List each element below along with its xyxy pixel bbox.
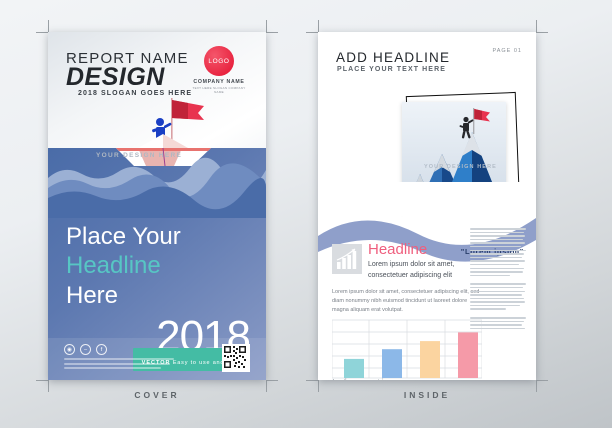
information-bar-chart — [332, 318, 482, 380]
crop-mark — [266, 32, 278, 33]
cover-footer: ◉ – f — [48, 338, 266, 380]
bar-series — [344, 332, 478, 378]
crop-mark — [318, 20, 319, 32]
headline-line-3: Here — [66, 281, 181, 310]
crop-mark — [266, 380, 267, 392]
bar-1 — [344, 359, 364, 378]
qr-code[interactable] — [222, 344, 250, 372]
crop-mark — [536, 32, 548, 33]
inside-subheadline: PLACE YOUR TEXT HERE — [337, 66, 446, 73]
artboard: REPORT NAME DESIGN 2018 SLOGAN GOES HERE… — [0, 0, 612, 428]
inside-design-here-label: YOUR DESIGN HERE — [424, 164, 497, 170]
logo-circle-icon: LOGO — [204, 46, 234, 76]
growth-chart-icon — [332, 244, 362, 274]
crop-mark — [306, 32, 318, 33]
company-tagline: TEXT HERE SLOGAN COMPANY NAME — [188, 86, 250, 94]
crop-mark — [48, 20, 49, 32]
crop-mark — [536, 20, 537, 32]
inside-caption: INSIDE — [318, 390, 536, 400]
globe-icon[interactable]: ◉ — [64, 344, 75, 355]
facebook-icon[interactable]: f — [96, 344, 107, 355]
slogan-text: 2018 SLOGAN GOES HERE — [78, 90, 192, 97]
crop-mark — [266, 20, 267, 32]
information-title: Information — [332, 378, 400, 380]
bar-4 — [458, 332, 478, 378]
crop-mark — [36, 32, 48, 33]
logo-label: LOGO — [208, 58, 229, 65]
bar-2 — [382, 349, 402, 378]
social-icon-group[interactable]: ◉ – f — [64, 344, 107, 355]
minus-icon[interactable]: – — [80, 344, 91, 355]
crop-mark — [536, 380, 548, 381]
right-text-column — [470, 228, 526, 331]
cover-design-here-label: YOUR DESIGN HERE — [96, 152, 182, 159]
inside-page[interactable]: ADD HEADLINE PLACE YOUR TEXT HERE PAGE 0… — [318, 32, 536, 380]
headline-line-1: Place Your — [66, 222, 181, 251]
bar-3 — [420, 341, 440, 378]
footer-text — [64, 358, 174, 372]
section-headline: Headline — [368, 241, 427, 258]
crop-mark — [266, 380, 278, 381]
company-logo-block[interactable]: LOGO COMPANY NAME TEXT HERE SLOGAN COMPA… — [188, 46, 250, 94]
design-wordmark: DESIGN — [66, 63, 165, 92]
crop-mark — [306, 380, 318, 381]
cover-page[interactable]: REPORT NAME DESIGN 2018 SLOGAN GOES HERE… — [48, 32, 266, 380]
crop-mark — [36, 380, 48, 381]
section-body-text: Lorem ipsum dolor sit amet, consectetuer… — [332, 288, 482, 314]
company-name: COMPANY NAME — [188, 79, 250, 85]
crop-mark — [536, 380, 537, 392]
page-number: PAGE 01 — [492, 48, 522, 54]
cover-caption: COVER — [48, 390, 266, 400]
cover-headline-block: Place Your Headline Here — [66, 222, 181, 310]
headline-line-2: Headline — [66, 251, 181, 280]
inside-headline: ADD HEADLINE — [336, 50, 450, 65]
